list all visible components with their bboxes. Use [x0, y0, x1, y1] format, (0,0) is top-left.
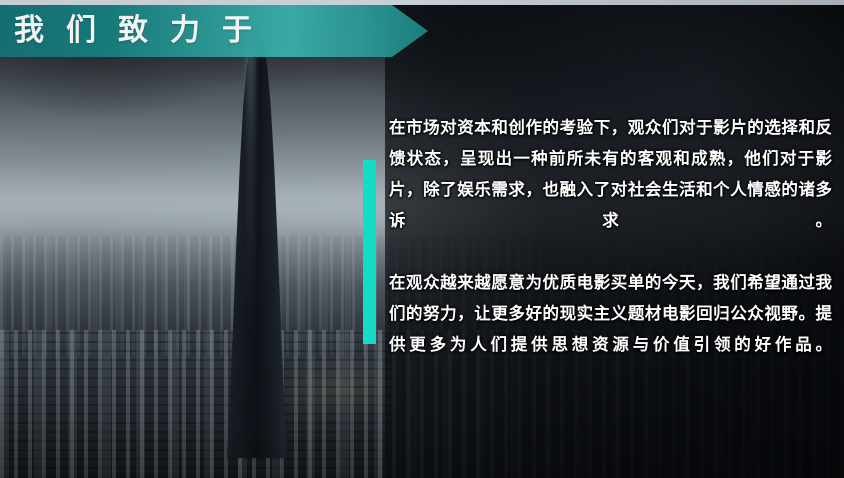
body-copy: 在市场对资本和创作的考验下，观众们对于影片的选择和反馈状态，呈现出一种前所未有的… [389, 112, 832, 360]
title-banner: 我们致力于 [0, 5, 428, 57]
paragraph-2: 在观众越来越愿意为优质电影买单的今天，我们希望通过我们的努力，让更多好的现实主义… [389, 267, 832, 360]
presentation-slide: 我们致力于 在市场对资本和创作的考验下，观众们对于影片的选择和反馈状态，呈现出一… [0, 0, 844, 478]
accent-bar [363, 160, 376, 344]
page-title: 我们致力于 [0, 16, 274, 46]
top-accent-strip [0, 0, 844, 5]
paragraph-1: 在市场对资本和创作的考验下，观众们对于影片的选择和反馈状态，呈现出一种前所未有的… [389, 112, 832, 236]
